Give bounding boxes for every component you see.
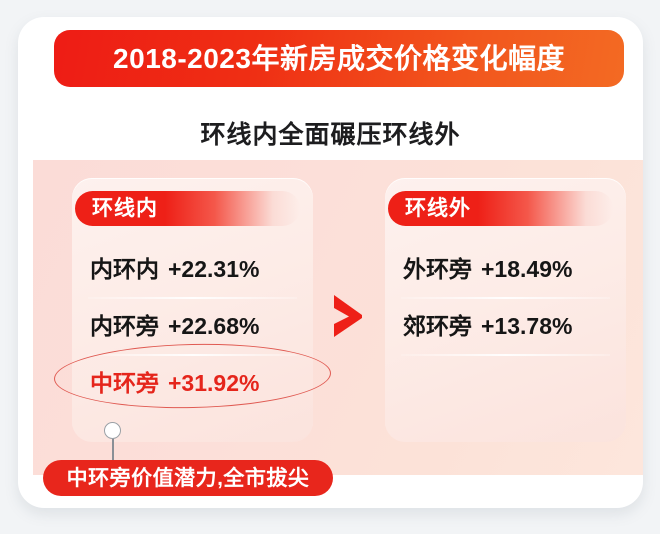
row-label: 内环内 (90, 258, 159, 281)
row-label: 内环旁 (90, 315, 159, 338)
callout-anchor-dot (104, 422, 121, 439)
row-label: 外环旁 (403, 258, 472, 281)
callout-label: 中环旁价值潜力,全市拔尖 (67, 468, 310, 489)
row-value: +31.92% (168, 372, 259, 395)
infographic-card: 2018-2023年新房成交价格变化幅度 环线内全面碾压环线外 环线内 内环内 … (18, 17, 643, 508)
row-value: +22.68% (168, 315, 259, 338)
zone-badge-outer-ring: 环线外 (388, 191, 613, 226)
comparison-panel: 环线内 内环内 +22.31% 内环旁 +22.68% 中环旁 +31.92% (33, 160, 643, 475)
zone-badge-label: 环线内 (92, 198, 158, 219)
table-row: 内环内 +22.31% (72, 241, 313, 298)
row-label: 中环旁 (90, 372, 159, 395)
table-row: 外环旁 +18.49% (385, 241, 626, 298)
zone-card-inner-ring: 环线内 内环内 +22.31% 内环旁 +22.68% 中环旁 +31.92% (72, 178, 313, 442)
table-row-highlighted: 中环旁 +31.92% (72, 355, 313, 412)
row-value: +18.49% (481, 258, 572, 281)
table-row: 郊环旁 +13.78% (385, 298, 626, 355)
row-value: +22.31% (168, 258, 259, 281)
greater-than-icon (328, 293, 368, 339)
zone-badge-inner-ring: 环线内 (75, 191, 300, 226)
subtitle: 环线内全面碾压环线外 (18, 115, 643, 151)
row-label: 郊环旁 (403, 315, 472, 338)
callout-badge: 中环旁价值潜力,全市拔尖 (43, 460, 333, 496)
title-banner: 2018-2023年新房成交价格变化幅度 (54, 30, 624, 87)
row-value: +13.78% (481, 315, 572, 338)
table-row: 内环旁 +22.68% (72, 298, 313, 355)
zone-badge-label: 环线外 (405, 198, 471, 219)
row-divider (401, 354, 610, 356)
page-title: 2018-2023年新房成交价格变化幅度 (113, 45, 565, 73)
zone-card-outer-ring: 环线外 外环旁 +18.49% 郊环旁 +13.78% (385, 178, 626, 442)
